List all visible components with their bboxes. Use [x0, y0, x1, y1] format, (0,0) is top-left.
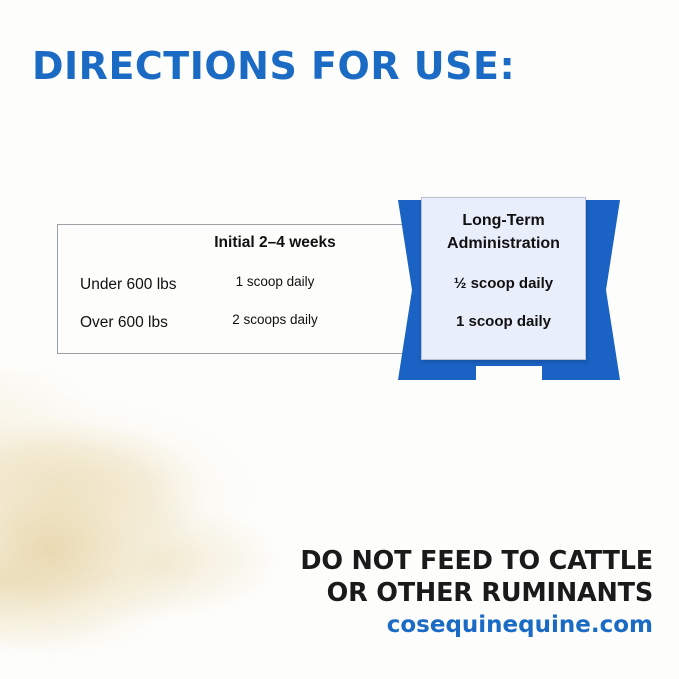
dosage-table-column-header: Initial 2–4 weeks [165, 234, 385, 252]
card-title-line-1: Long-Term [422, 209, 585, 232]
card-title: Long-Term Administration [422, 209, 585, 255]
card-value-over-600: 1 scoop daily [422, 313, 585, 330]
ribbon-bottom-notch [476, 366, 542, 380]
dosage-row-value-over-600: 2 scoops daily [180, 312, 370, 327]
dosage-row-label-under-600: Under 600 lbs [80, 276, 177, 294]
warning-line-1: DO NOT FEED TO CATTLE [0, 546, 653, 576]
warning-line-2: OR OTHER RUMINANTS [0, 578, 653, 608]
page-title: DIRECTIONS FOR USE: [32, 44, 515, 88]
dosage-row-label-over-600: Over 600 lbs [80, 314, 168, 332]
product-label-panel: DIRECTIONS FOR USE: Initial 2–4 weeks Un… [0, 0, 679, 679]
ribbon-right-tail [584, 200, 620, 380]
website-url: cosequinequine.com [0, 612, 653, 638]
long-term-administration-card: Long-Term Administration ½ scoop daily 1… [421, 197, 586, 360]
card-value-under-600: ½ scoop daily [422, 275, 585, 292]
dosage-row-value-under-600: 1 scoop daily [180, 274, 370, 289]
card-title-line-2: Administration [422, 232, 585, 255]
